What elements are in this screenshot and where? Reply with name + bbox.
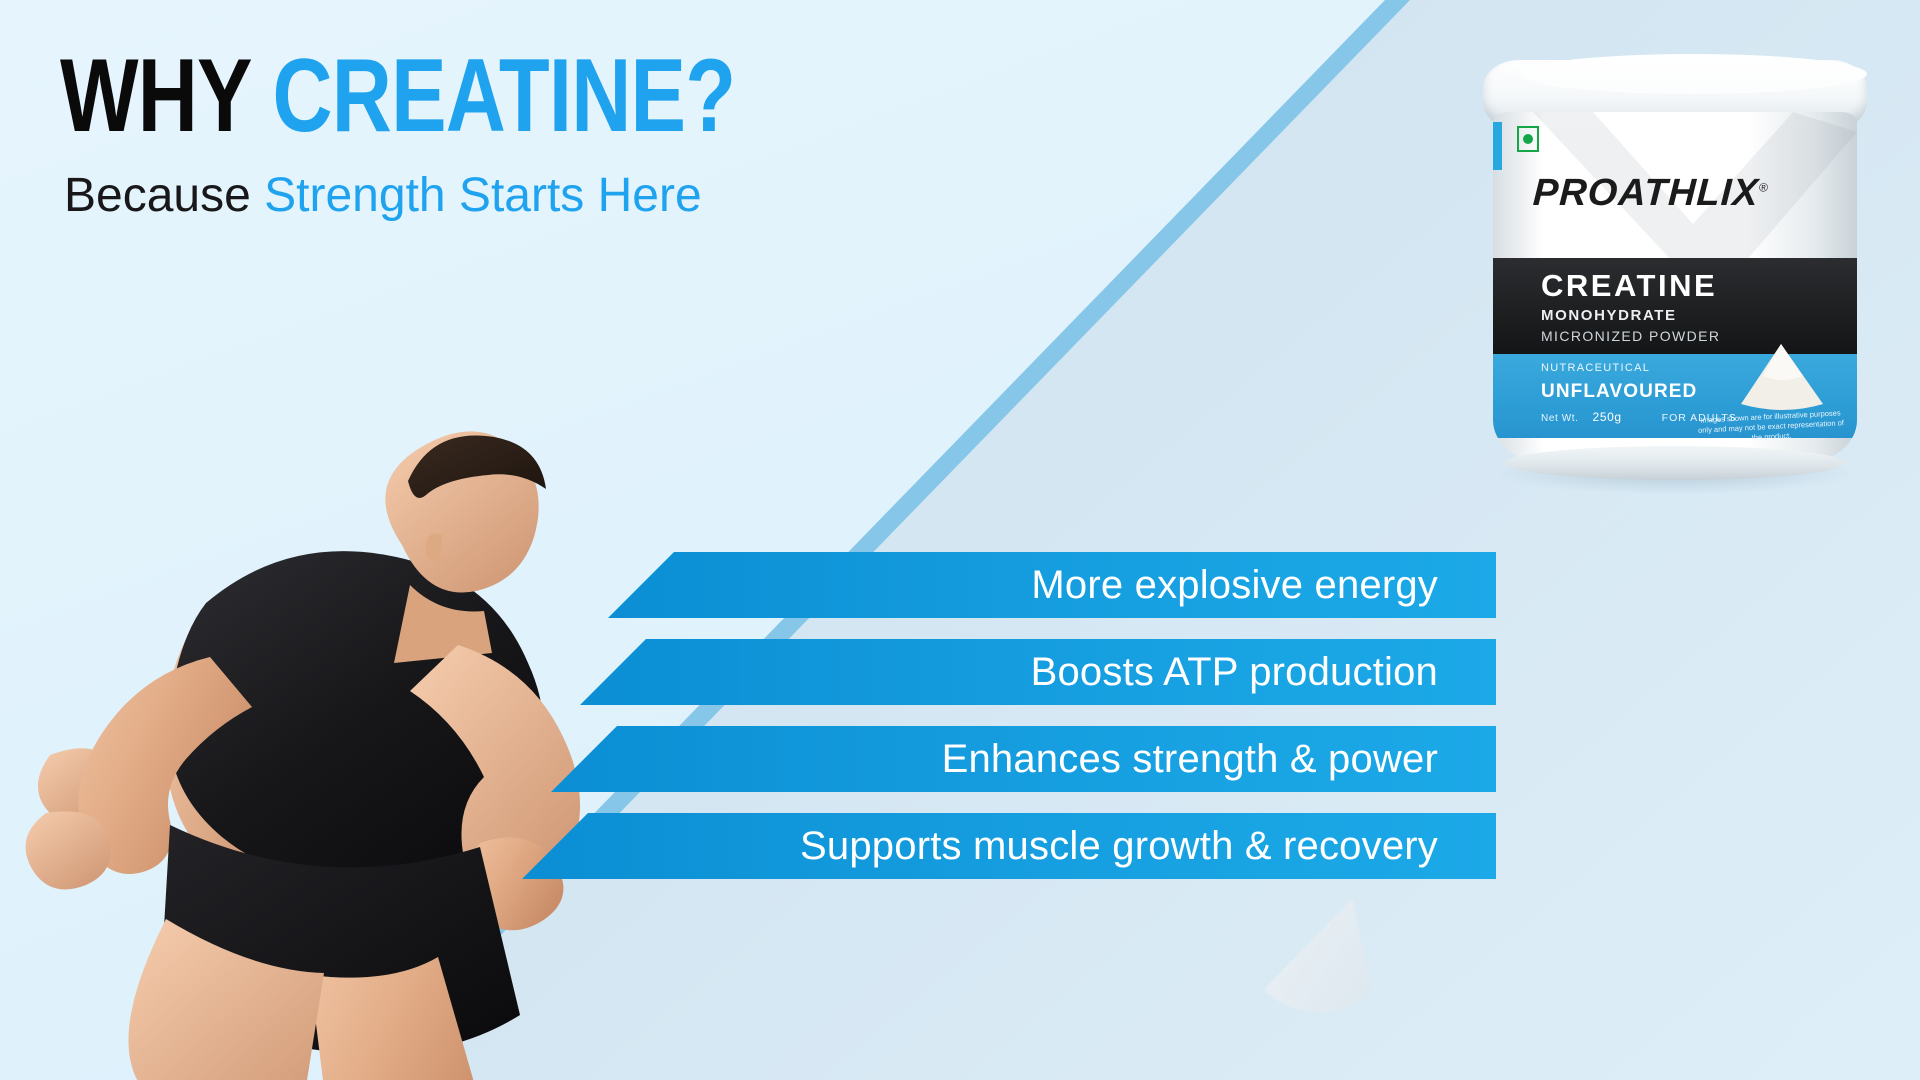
- net-weight-value: 250g: [1593, 410, 1622, 424]
- product-lid-top: [1519, 54, 1867, 94]
- product-image[interactable]: PROATHLIX® CREATINE MONOHYDRATE MICRONIZ…: [1465, 60, 1885, 480]
- product-body: PROATHLIX® CREATINE MONOHYDRATE MICRONIZ…: [1493, 112, 1857, 464]
- side-stripe: [1493, 122, 1502, 170]
- net-weight-label: Net Wt.: [1541, 413, 1579, 424]
- brand-name: PROATHLIX: [1532, 172, 1760, 214]
- powder-scoop-icon: [1723, 340, 1843, 414]
- brand-logo: PROATHLIX®: [1533, 170, 1823, 216]
- veg-mark-icon: [1517, 126, 1539, 152]
- benefit-label-4: Supports muscle growth & recovery: [800, 824, 1438, 869]
- benefit-bar-2[interactable]: Boosts ATP production: [580, 639, 1496, 705]
- benefit-label-2: Boosts ATP production: [1031, 650, 1438, 695]
- benefit-bar-1[interactable]: More explosive energy: [608, 552, 1496, 618]
- benefit-bar-3[interactable]: Enhances strength & power: [551, 726, 1496, 792]
- promo-banner: WHY CREATINE? Because Strength Starts He…: [0, 0, 1920, 1080]
- product-sub-name: MONOHYDRATE: [1541, 307, 1857, 324]
- brand-registered-icon: ®: [1759, 180, 1770, 194]
- benefit-bar-4[interactable]: Supports muscle growth & recovery: [522, 813, 1496, 879]
- benefit-label-3: Enhances strength & power: [942, 737, 1438, 782]
- benefit-label-1: More explosive energy: [1031, 563, 1438, 608]
- product-base: [1505, 446, 1845, 480]
- product-name: CREATINE: [1541, 270, 1857, 301]
